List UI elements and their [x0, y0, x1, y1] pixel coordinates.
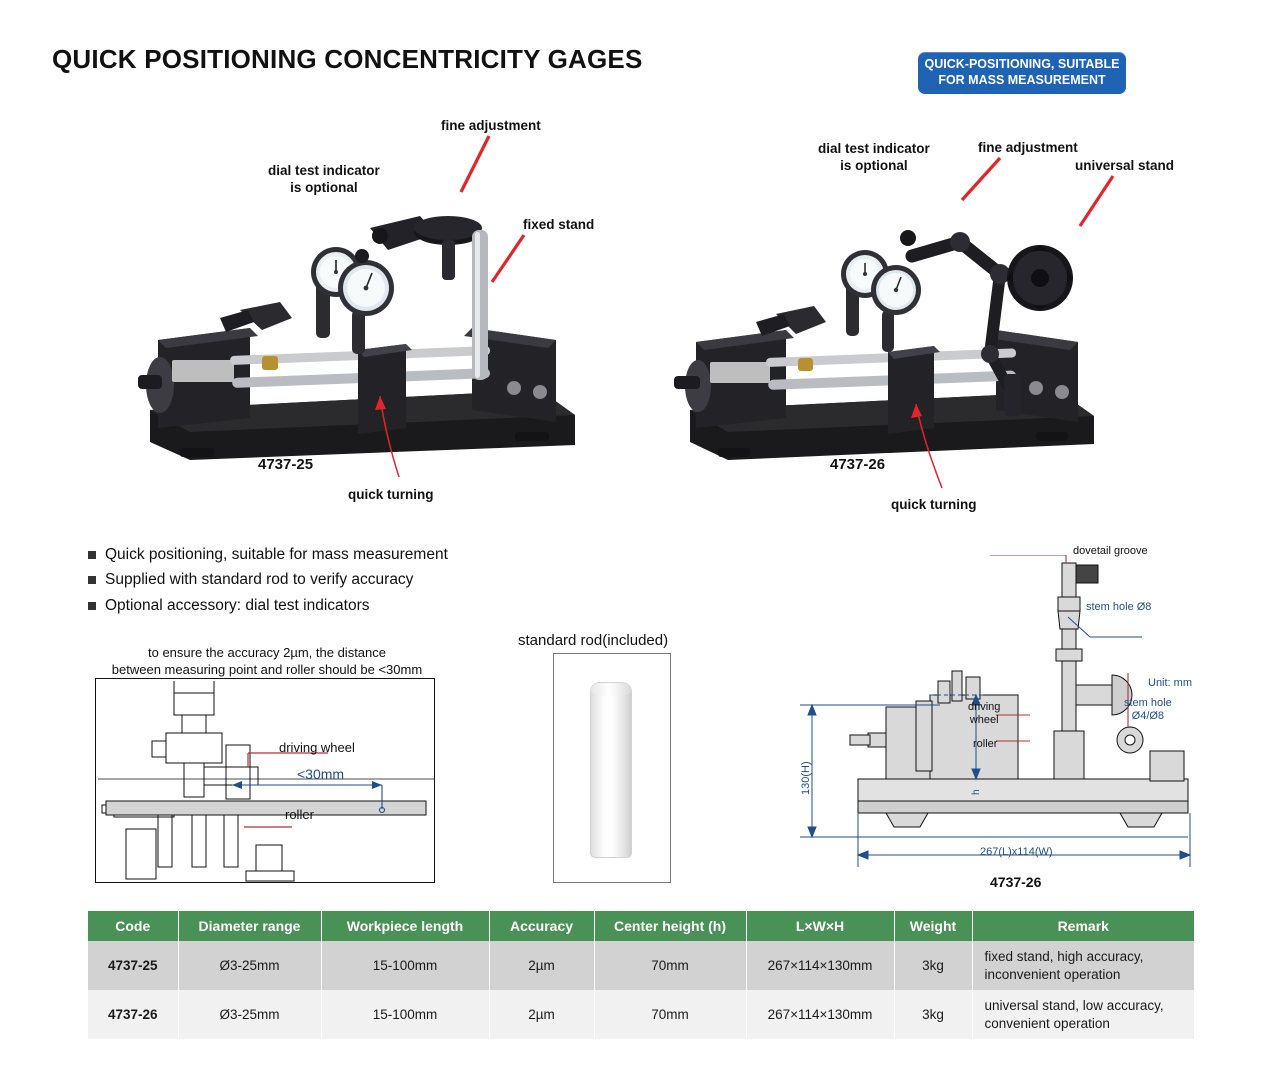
accuracy-diagram-drawing [96, 679, 434, 882]
table-row: 4737-25 Ø3-25mm 15-100mm 2µm 70mm 267×11… [88, 941, 1194, 990]
stem-hole-48-line-2: Ø4/Ø8 [1124, 710, 1172, 723]
column-header-center-height: Center height (h) [594, 911, 746, 941]
accuracy-diagram-caption: to ensure the accuracy 2µm, the distance… [82, 645, 452, 679]
cell-diameter-range: Ø3-25mm [178, 990, 321, 1039]
feature-text: Optional accessory: dial test indicators [105, 596, 369, 615]
accuracy-diagram-box [95, 678, 435, 883]
stem-hole-48-line-1: stem hole [1124, 697, 1172, 710]
remark-line-1: universal stand, low accuracy, [985, 997, 1189, 1015]
cell-diameter-range: Ø3-25mm [178, 941, 321, 990]
label-unit: Unit: mm [1148, 677, 1192, 690]
cell-workpiece-length: 15-100mm [321, 941, 489, 990]
label-driving-wheel-accuracy: driving wheel [279, 740, 355, 756]
dimension-width: 267(L)x114(W) [980, 846, 1053, 859]
dimension-center-height: h [971, 789, 982, 795]
cell-center-height: 70mm [594, 941, 746, 990]
bullet-square-icon [88, 602, 96, 610]
tech-drawing-model-label: 4737-26 [990, 874, 1041, 890]
column-header-remark: Remark [972, 911, 1194, 941]
cell-code: 4737-26 [88, 990, 178, 1039]
table-row: 4737-26 Ø3-25mm 15-100mm 2µm 70mm 267×11… [88, 990, 1194, 1039]
feature-text: Quick positioning, suitable for mass mea… [105, 545, 448, 564]
catalog-page: QUICK POSITIONING CONCENTRICITY GAGES QU… [0, 0, 1276, 1073]
cell-lwh: 267×114×130mm [746, 990, 894, 1039]
remark-line-2: inconvenient operation [985, 966, 1189, 984]
remark-line-1: fixed stand, high accuracy, [985, 948, 1189, 966]
cell-accuracy: 2µm [489, 941, 594, 990]
accuracy-caption-line-2: between measuring point and roller shoul… [82, 662, 452, 679]
cell-accuracy: 2µm [489, 990, 594, 1039]
label-stem-hole-8: stem hole Ø8 [1086, 601, 1151, 614]
label-driving-wheel-tech: driving wheel [968, 701, 1000, 727]
cell-lwh: 267×114×130mm [746, 941, 894, 990]
bullet-square-icon [88, 551, 96, 559]
cell-weight: 3kg [894, 990, 972, 1039]
rod-cylinder [590, 682, 632, 858]
standard-rod-image [553, 653, 671, 883]
cell-remark: universal stand, low accuracy, convenien… [972, 990, 1194, 1039]
list-item: Supplied with standard rod to verify acc… [88, 570, 448, 589]
driving-wheel-line-1: driving [968, 701, 1000, 714]
label-roller-tech: roller [973, 738, 997, 751]
cell-code: 4737-25 [88, 941, 178, 990]
model-label-4737-26: 4737-26 [830, 456, 885, 473]
table-header-row: Code Diameter range Workpiece length Acc… [88, 911, 1194, 941]
cell-center-height: 70mm [594, 990, 746, 1039]
accuracy-caption-line-1: to ensure the accuracy 2µm, the distance [82, 645, 452, 662]
label-distance-30mm: <30mm [297, 766, 344, 783]
column-header-accuracy: Accuracy [489, 911, 594, 941]
specification-table: Code Diameter range Workpiece length Acc… [88, 911, 1194, 1039]
label-stem-hole-4-8: stem hole Ø4/Ø8 [1124, 697, 1172, 723]
remark-line-2: convenient operation [985, 1015, 1189, 1033]
column-header-lwh: L×W×H [746, 911, 894, 941]
column-header-weight: Weight [894, 911, 972, 941]
cell-weight: 3kg [894, 941, 972, 990]
column-header-workpiece-length: Workpiece length [321, 911, 489, 941]
bullet-square-icon [88, 576, 96, 584]
column-header-diameter-range: Diameter range [178, 911, 321, 941]
cell-remark: fixed stand, high accuracy, inconvenient… [972, 941, 1194, 990]
dimension-height: 130(H) [800, 761, 812, 795]
column-header-code: Code [88, 911, 178, 941]
feature-list: Quick positioning, suitable for mass mea… [88, 545, 448, 621]
label-roller-accuracy: roller [285, 807, 314, 823]
cell-workpiece-length: 15-100mm [321, 990, 489, 1039]
list-item: Optional accessory: dial test indicators [88, 596, 448, 615]
label-dovetail-groove: dovetail groove [1073, 545, 1148, 558]
list-item: Quick positioning, suitable for mass mea… [88, 545, 448, 564]
standard-rod-caption: standard rod(included) [518, 632, 668, 649]
feature-text: Supplied with standard rod to verify acc… [105, 570, 413, 589]
driving-wheel-line-2: wheel [968, 714, 1000, 727]
